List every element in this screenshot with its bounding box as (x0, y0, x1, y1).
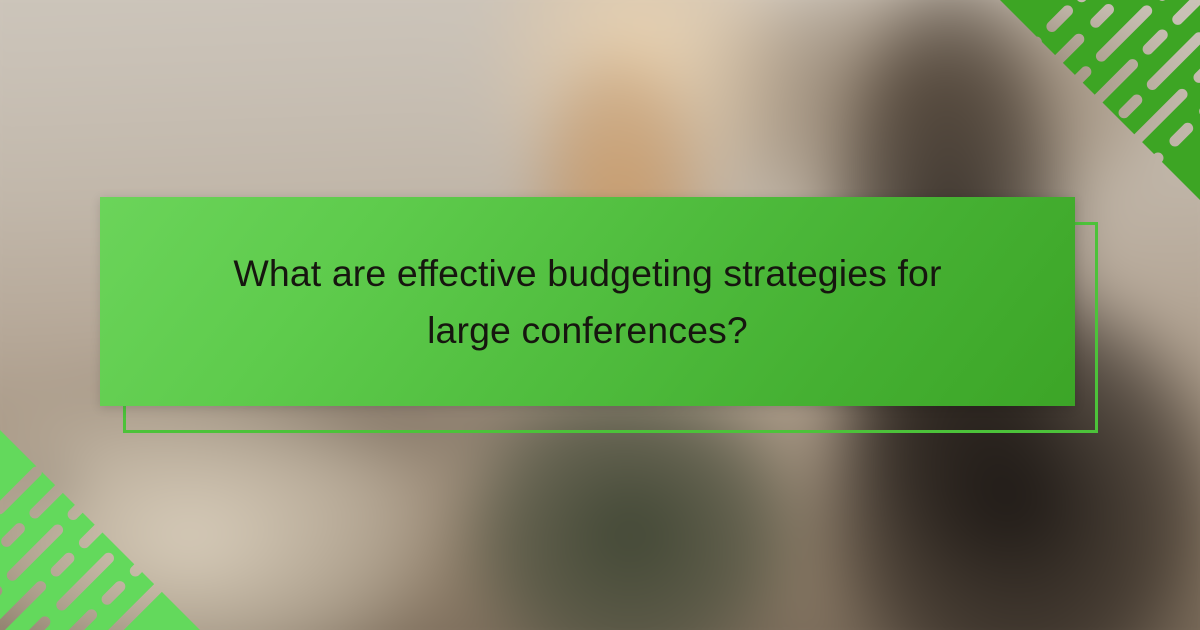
question-card-body: What are effective budgeting strategies … (100, 197, 1075, 406)
question-title: What are effective budgeting strategies … (223, 245, 953, 359)
question-card: What are effective budgeting strategies … (100, 197, 1075, 406)
dashed-diagonal-corner-pattern-bottom-left (0, 430, 200, 630)
dashed-diagonal-corner-pattern-top-right (1000, 0, 1200, 200)
share-card-canvas: What are effective budgeting strategies … (0, 0, 1200, 630)
